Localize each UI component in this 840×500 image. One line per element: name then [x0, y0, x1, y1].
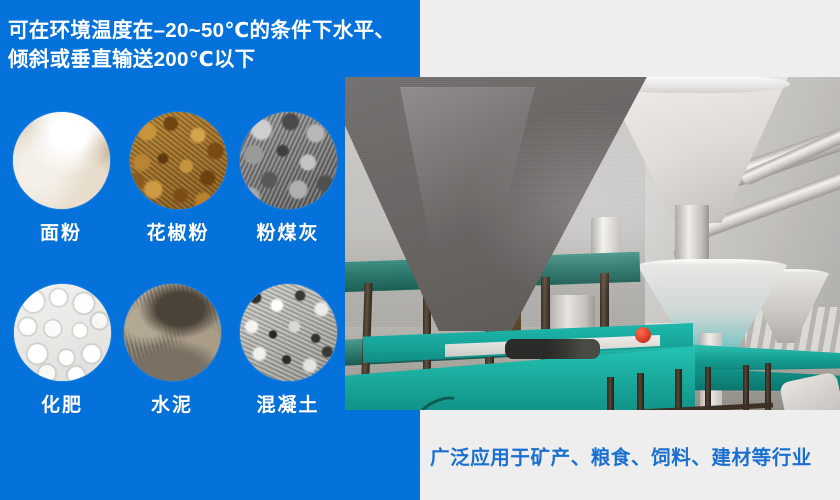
cement-thumbnail: [124, 284, 221, 381]
material-label: 粉煤灰: [223, 218, 353, 245]
fly-ash-texture-icon: [240, 112, 337, 209]
pepper-powder-texture-icon: [130, 112, 227, 209]
material-label: 面粉: [0, 218, 126, 245]
caption-bar: 广泛应用于矿产、粮食、饲料、建材等行业: [420, 410, 840, 500]
fertilizer-thumbnail: [14, 284, 111, 381]
concrete-thumbnail: [240, 284, 337, 381]
photo-grain-overlay: [345, 77, 840, 410]
application-caption: 广泛应用于矿产、粮食、饲料、建材等行业: [430, 441, 812, 470]
flour-texture-icon: [13, 112, 110, 209]
fly-ash-thumbnail: [240, 112, 337, 209]
material-item-flour[interactable]: 面粉: [0, 112, 126, 245]
promo-banner: 可在环境温度在–20~50℃的条件下水平、 倾斜或垂直输送200℃以下 面粉 花…: [0, 0, 840, 500]
fertilizer-texture-icon: [14, 284, 111, 381]
cement-texture-icon: [124, 284, 221, 381]
flour-thumbnail: [13, 112, 110, 209]
material-item-concrete[interactable]: 混凝土: [223, 284, 353, 417]
headline-text: 可在环境温度在–20~50℃的条件下水平、 倾斜或垂直输送200℃以下: [8, 16, 412, 74]
factory-conveyor-photo: [345, 77, 840, 410]
material-item-fly-ash[interactable]: 粉煤灰: [223, 112, 353, 245]
pepper-powder-thumbnail: [130, 112, 227, 209]
material-label: 混凝土: [223, 390, 353, 417]
concrete-texture-icon: [240, 284, 337, 381]
material-item-cement[interactable]: 水泥: [107, 284, 237, 417]
material-label: 水泥: [107, 390, 237, 417]
